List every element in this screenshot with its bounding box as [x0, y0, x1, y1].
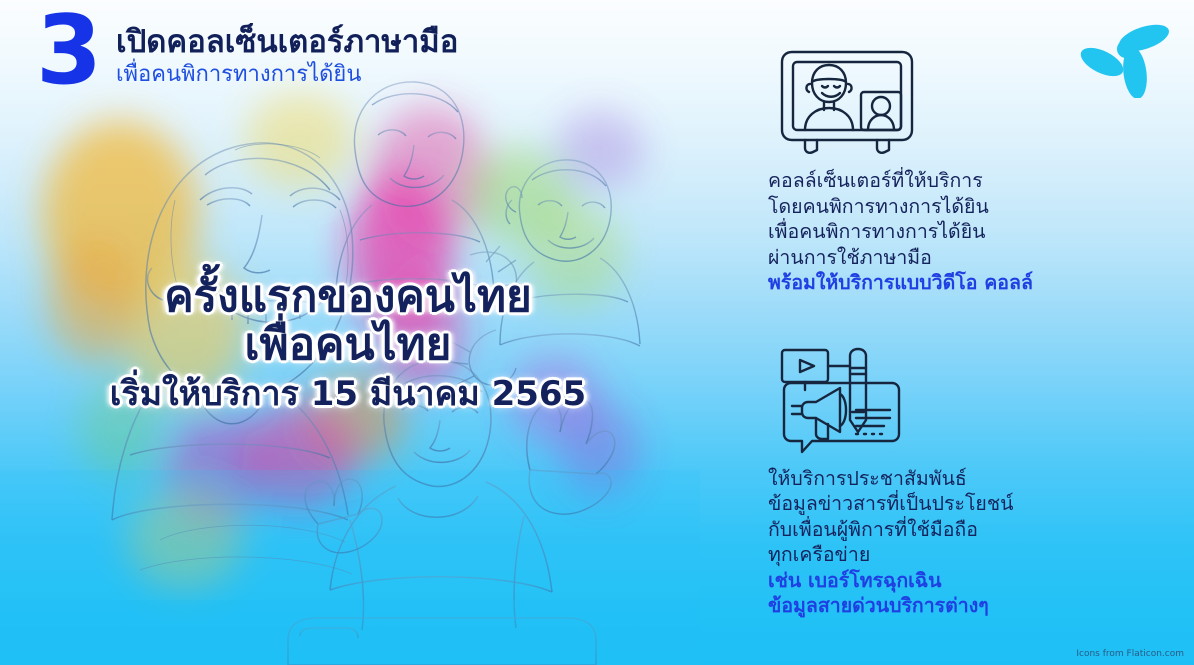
feature-block-announcement: ให้บริการประชาสัมพันธ์ ข้อมูลข่าวสารที่เ… — [768, 346, 1098, 619]
feature-text-announcement: ให้บริการประชาสัมพันธ์ ข้อมูลข่าวสารที่เ… — [768, 466, 1098, 619]
accent-text-line: เช่น เบอร์โทรฉุกเฉิน — [768, 568, 1098, 594]
slide-header: 3 เปิดคอลเซ็นเตอร์ภาษามือ เพื่อคนพิการทา… — [34, 8, 594, 108]
header-text-group: เปิดคอลเซ็นเตอร์ภาษามือ เพื่อคนพิการทางก… — [116, 24, 458, 89]
text-line: โดยคนพิการทางการได้ยิน — [768, 194, 1098, 220]
page-title: เปิดคอลเซ็นเตอร์ภาษามือ — [116, 24, 458, 60]
text-line: คอลล์เซ็นเตอร์ที่ให้บริการ — [768, 168, 1098, 194]
step-number: 3 — [36, 4, 100, 99]
feature-column: คอลล์เซ็นเตอร์ที่ให้บริการ โดยคนพิการทาง… — [768, 40, 1098, 619]
headline-line-2: เพื่อคนไทย — [18, 320, 678, 370]
headline-line-3: เริ่มให้บริการ 15 มีนาคม 2565 — [18, 372, 678, 416]
megaphone-announcement-icon — [772, 346, 922, 456]
page-subtitle: เพื่อคนพิการทางการได้ยิน — [116, 61, 458, 89]
infographic-slide: 3 เปิดคอลเซ็นเตอร์ภาษามือ เพื่อคนพิการทา… — [0, 0, 1194, 665]
feature-block-video-call: คอลล์เซ็นเตอร์ที่ให้บริการ โดยคนพิการทาง… — [768, 40, 1098, 296]
text-line: ข้อมูลข่าวสารที่เป็นประโยชน์ — [768, 491, 1098, 517]
text-line: ทุกเครือข่าย — [768, 542, 1098, 568]
main-headline: ครั้งแรกของคนไทย เพื่อคนไทย เริ่มให้บริก… — [18, 272, 678, 416]
headline-line-1: ครั้งแรกของคนไทย — [18, 272, 678, 322]
text-line: กับเพื่อนผู้พิการที่ใช้มือถือ — [768, 517, 1098, 543]
accent-text-line: พร้อมให้บริการแบบวิดีโอ คอลล์ — [768, 270, 1098, 296]
video-call-screen-icon — [772, 40, 922, 158]
text-line: ผ่านการใช้ภาษามือ — [768, 245, 1098, 271]
text-line: เพื่อคนพิการทางการได้ยิน — [768, 219, 1098, 245]
accent-text-line: ข้อมูลสายด่วนบริการต่างๆ — [768, 593, 1098, 619]
text-line: ให้บริการประชาสัมพันธ์ — [768, 466, 1098, 492]
image-credit: Icons from Flaticon.com — [1076, 649, 1184, 659]
feature-text-video-call: คอลล์เซ็นเตอร์ที่ให้บริการ โดยคนพิการทาง… — [768, 168, 1098, 296]
